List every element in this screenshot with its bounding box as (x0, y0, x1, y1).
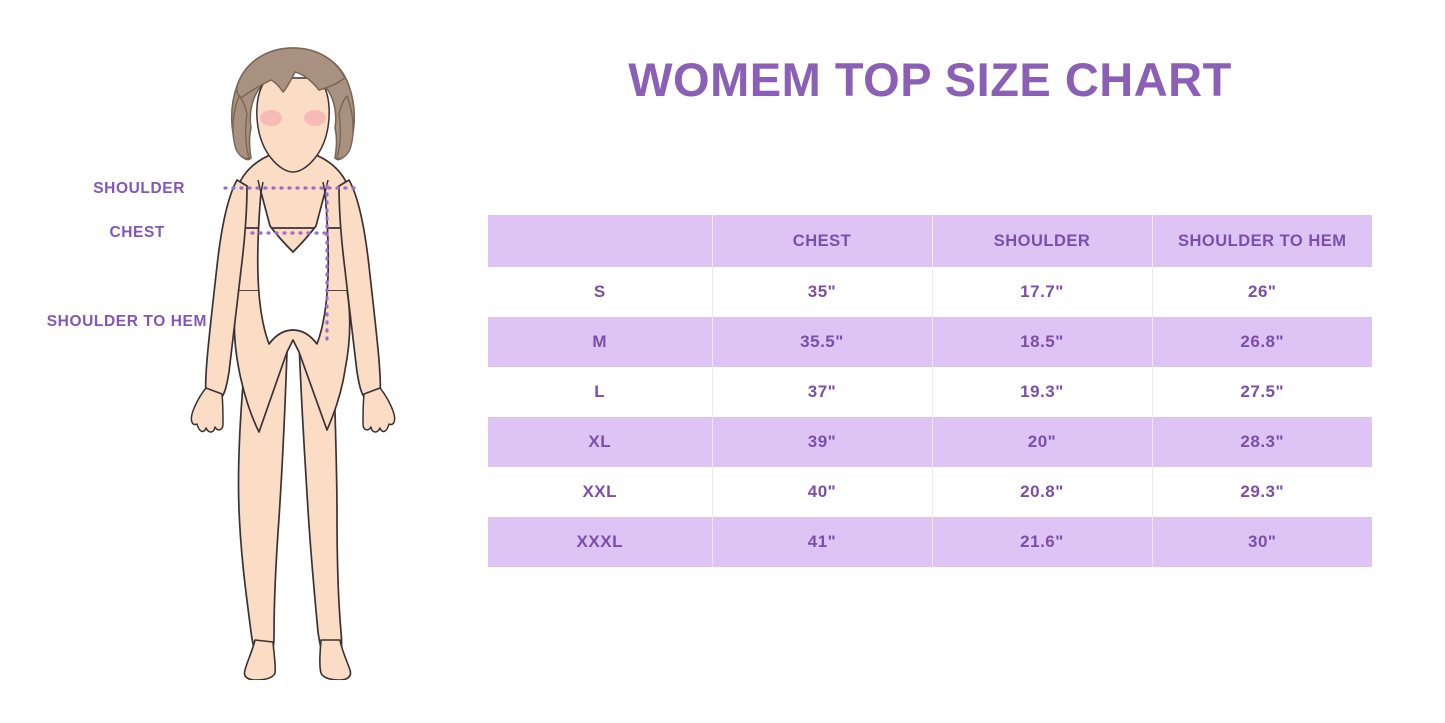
cell-shoulder-to-hem: 29.3" (1152, 467, 1372, 517)
cell-shoulder: 19.3" (932, 367, 1152, 417)
cell-chest: 37" (712, 367, 932, 417)
column-header-shoulder-to-hem: SHOULDER TO HEM (1152, 215, 1372, 267)
cell-shoulder: 21.6" (932, 517, 1152, 567)
blush-right (304, 110, 326, 126)
cell-chest: 35" (712, 267, 932, 317)
cell-shoulder-to-hem: 30" (1152, 517, 1372, 567)
blush-left (260, 110, 282, 126)
table-body: S 35" 17.7" 26" M 35.5" 18.5" 26.8" L 37… (488, 267, 1372, 567)
cell-size: L (488, 367, 712, 417)
cell-size: XL (488, 417, 712, 467)
table-row: XXXL 41" 21.6" 30" (488, 517, 1372, 567)
column-header-size (488, 215, 712, 267)
figure-body (191, 48, 394, 680)
table-header: CHEST SHOULDER SHOULDER TO HEM (488, 215, 1372, 267)
cell-size: XXL (488, 467, 712, 517)
cell-chest: 35.5" (712, 317, 932, 367)
table-header-row: CHEST SHOULDER SHOULDER TO HEM (488, 215, 1372, 267)
illustration-panel: SHOULDER CHEST SHOULDER TO HEM (0, 0, 470, 723)
page-title: WOMEM TOP SIZE CHART (488, 52, 1372, 107)
cell-shoulder: 20" (932, 417, 1152, 467)
cell-shoulder-to-hem: 27.5" (1152, 367, 1372, 417)
cell-shoulder-to-hem: 26" (1152, 267, 1372, 317)
table-row: XXL 40" 20.8" 29.3" (488, 467, 1372, 517)
cell-shoulder: 17.7" (932, 267, 1152, 317)
table-row: S 35" 17.7" 26" (488, 267, 1372, 317)
cell-chest: 40" (712, 467, 932, 517)
cell-chest: 41" (712, 517, 932, 567)
cell-shoulder: 18.5" (932, 317, 1152, 367)
cell-size: XXXL (488, 517, 712, 567)
cell-chest: 39" (712, 417, 932, 467)
label-chest: CHEST (0, 224, 165, 242)
column-header-chest: CHEST (712, 215, 932, 267)
label-shoulder: SHOULDER (0, 180, 185, 198)
cell-shoulder-to-hem: 26.8" (1152, 317, 1372, 367)
female-figure-illustration (175, 40, 435, 680)
size-chart-table: CHEST SHOULDER SHOULDER TO HEM S 35" 17.… (488, 215, 1372, 567)
cell-shoulder: 20.8" (932, 467, 1152, 517)
cell-size: M (488, 317, 712, 367)
table-row: L 37" 19.3" 27.5" (488, 367, 1372, 417)
cell-shoulder-to-hem: 28.3" (1152, 417, 1372, 467)
column-header-shoulder: SHOULDER (932, 215, 1152, 267)
table-row: XL 39" 20" 28.3" (488, 417, 1372, 467)
table-row: M 35.5" 18.5" 26.8" (488, 317, 1372, 367)
label-shoulder-to-hem: SHOULDER TO HEM (0, 313, 207, 331)
cell-size: S (488, 267, 712, 317)
